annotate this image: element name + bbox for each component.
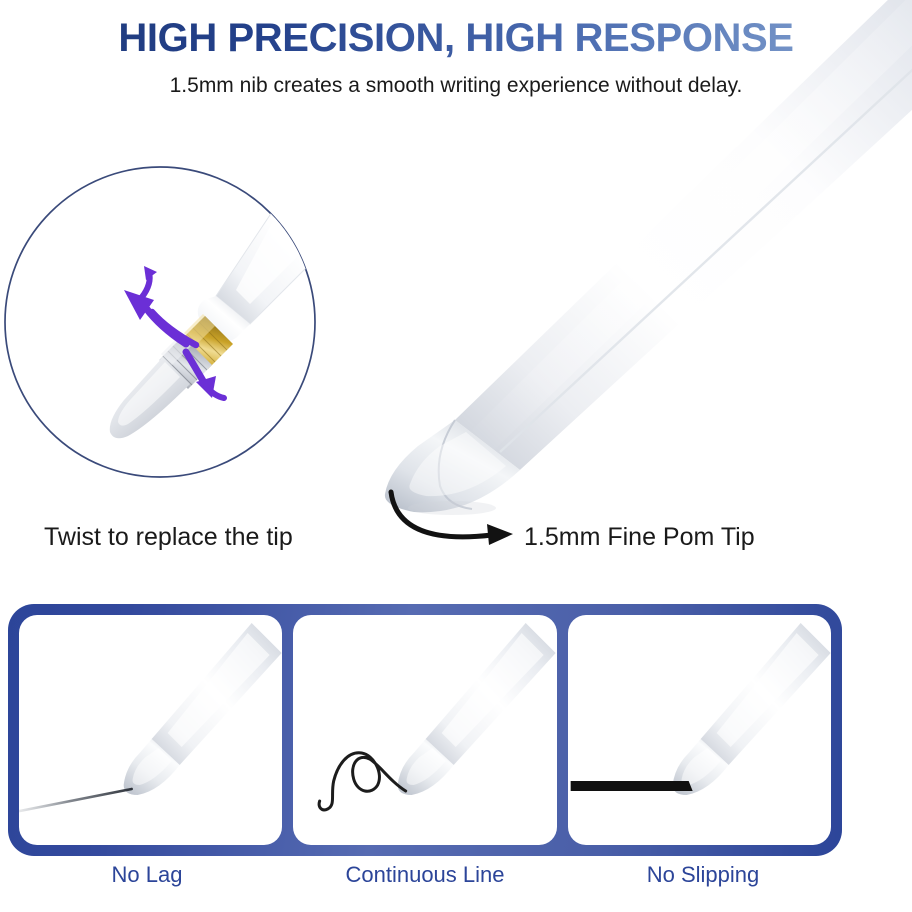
stylus-squiggle-icon (293, 615, 556, 845)
tip-detail-circle (5, 167, 352, 477)
feature-labels: No Lag Continuous Line No Slipping (8, 862, 842, 888)
panel-no-lag (19, 615, 282, 845)
twist-arrow-down (186, 352, 224, 398)
stylus-thin-line-icon (19, 615, 282, 845)
knurled-collar (159, 334, 212, 389)
feature-panels (8, 604, 842, 856)
label-continuous-line: Continuous Line (286, 862, 564, 888)
product-feature-image: HIGH PRECISION, HIGH RESPONSE 1.5mm nib … (0, 0, 912, 912)
panel-continuous-line (293, 615, 556, 845)
page-subtitle: 1.5mm nib creates a smooth writing exper… (0, 74, 912, 98)
replaceable-tip-cone (110, 357, 190, 438)
panel-no-slipping (568, 615, 831, 845)
page-title: HIGH PRECISION, HIGH RESPONSE (0, 16, 912, 61)
label-no-slipping: No Slipping (564, 862, 842, 888)
mini-stylus-body (198, 170, 352, 342)
stylus-thick-line-icon (568, 615, 831, 845)
label-no-lag: No Lag (8, 862, 286, 888)
tip-detail-contents (106, 170, 352, 438)
gold-shaft (180, 314, 233, 369)
tip-callout-arrow-icon (391, 492, 513, 545)
twist-arrow-up (124, 266, 186, 344)
twist-arrows-icon (106, 312, 196, 345)
caption-twist-to-replace: Twist to replace the tip (44, 523, 293, 552)
caption-fine-pom-tip: 1.5mm Fine Pom Tip (524, 523, 755, 552)
